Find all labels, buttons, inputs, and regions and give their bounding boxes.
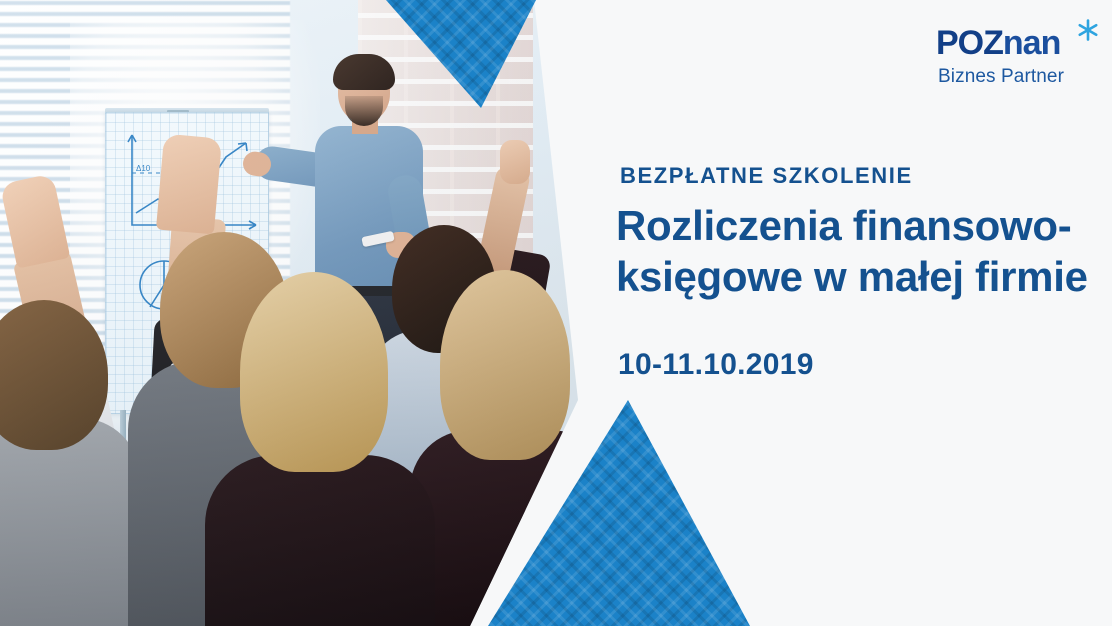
headline-line-1: Rozliczenia finansowo-	[616, 202, 1071, 249]
asterisk-star-icon	[1076, 18, 1100, 42]
attendee-body	[0, 418, 140, 626]
page-title: Rozliczenia finansowo- księgowe w małej …	[616, 200, 1112, 302]
logo-wordmark: POZnan	[936, 26, 1060, 60]
attendee-head	[240, 272, 388, 472]
attendee-body	[205, 455, 435, 626]
photo-backdrop: Δ10	[0, 0, 620, 626]
logo-tagline: Biznes Partner	[938, 66, 1064, 88]
svg-text:Δ10: Δ10	[136, 164, 151, 173]
event-date: 10-11.10.2019	[618, 348, 814, 382]
event-banner: Δ10	[0, 0, 1112, 626]
poznan-biznes-partner-logo[interactable]: POZnan Biznes Partner	[936, 18, 1096, 88]
headline-line-2: księgowe w małej firmie	[616, 251, 1112, 302]
kicker-label: BEZPŁATNE SZKOLENIE	[620, 163, 913, 189]
training-room-photo: Δ10	[0, 0, 620, 626]
raised-hand-center	[156, 134, 222, 235]
raised-hand-right	[500, 140, 530, 184]
logo-word-nan: nan	[1003, 24, 1060, 62]
logo-word-poz: POZ	[936, 24, 1003, 62]
attendee-head	[440, 270, 570, 460]
banner-text-panel: BEZPŁATNE SZKOLENIE Rozliczenia finansow…	[616, 0, 1112, 626]
presenter-hair	[333, 54, 395, 90]
